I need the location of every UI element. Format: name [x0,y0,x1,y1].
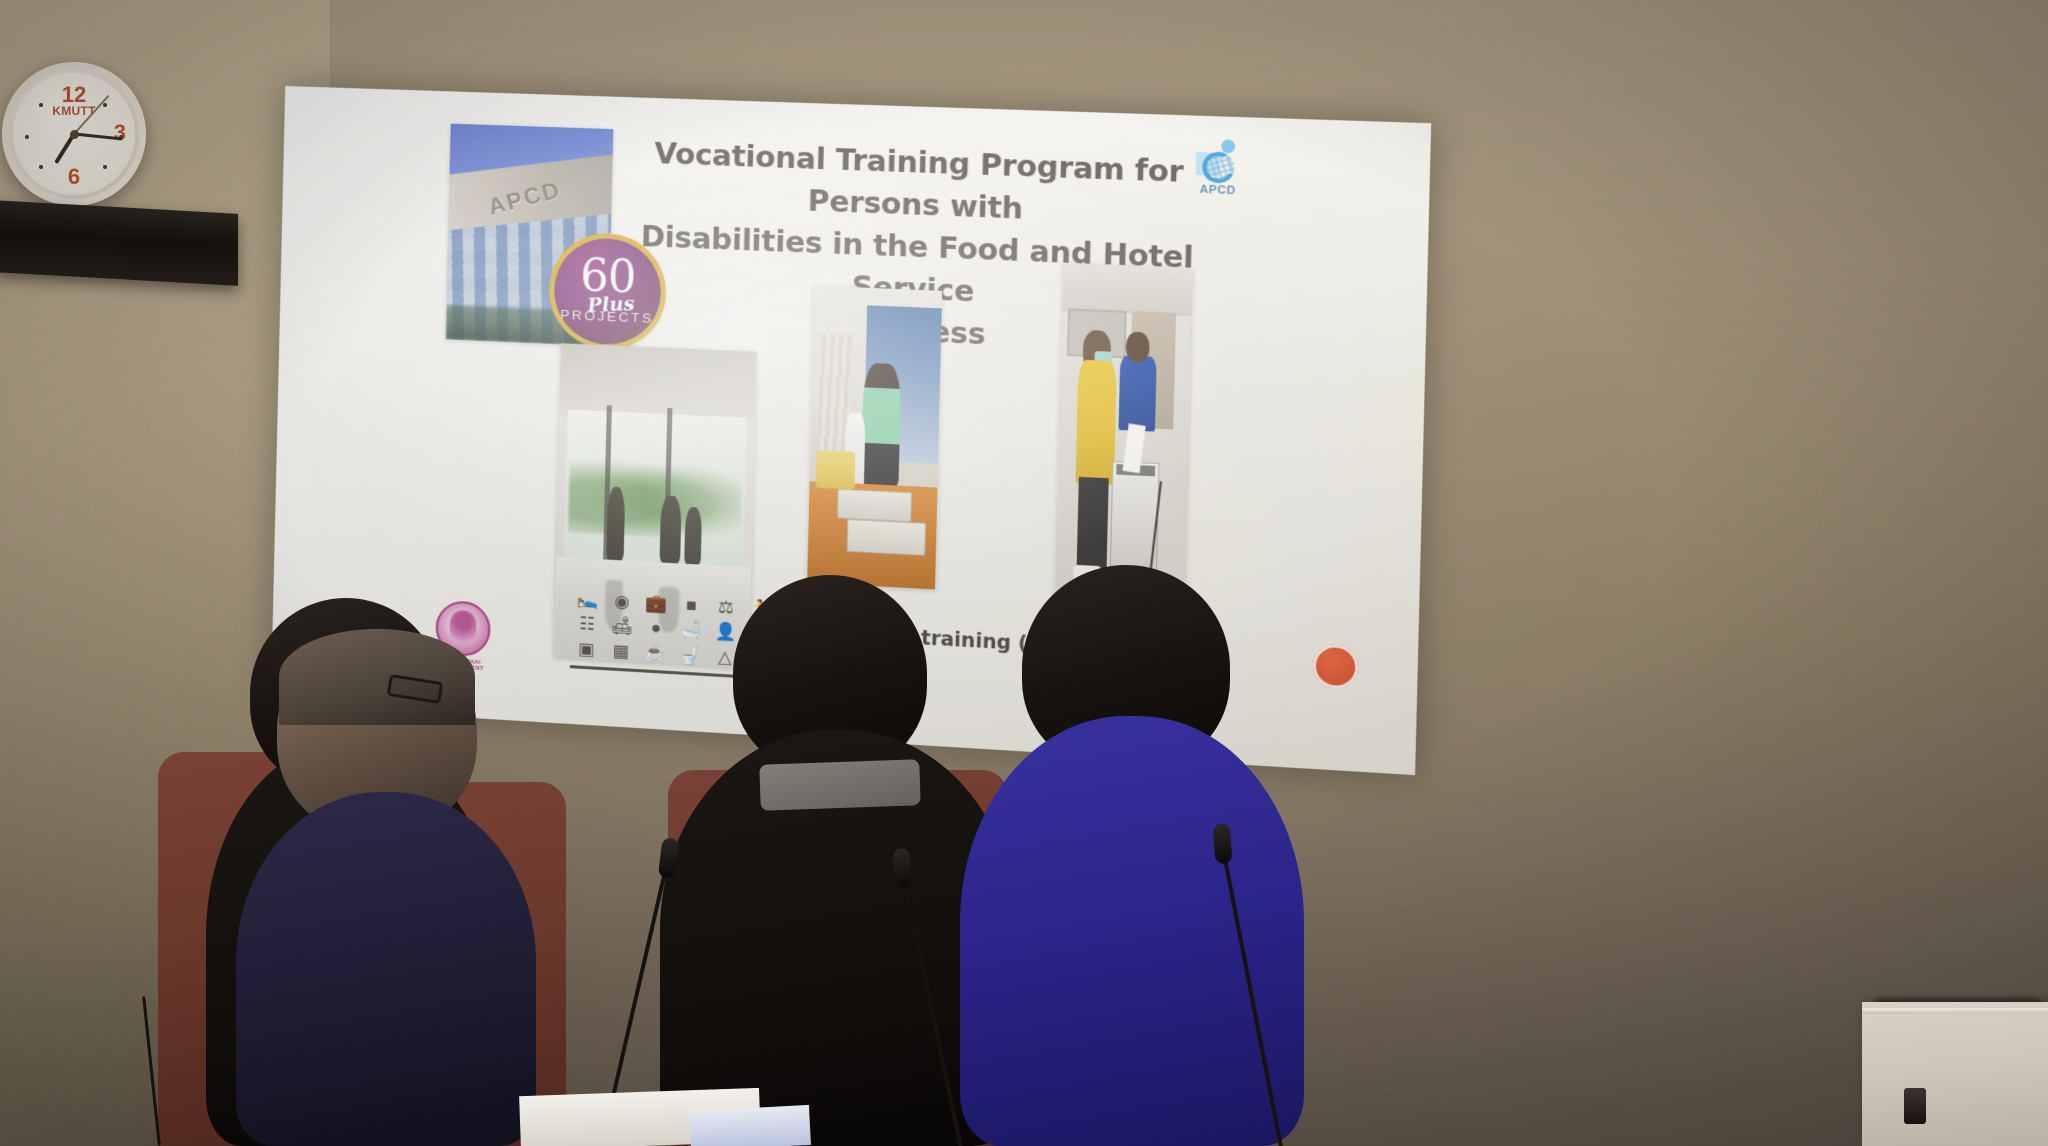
mic-capsule [892,848,912,889]
console-knob[interactable] [1904,1088,1926,1124]
attendee-right-body [960,716,1304,1146]
mic-capsule [1213,823,1233,864]
document-on-table [689,1105,811,1146]
attendee-glasses-hair [279,629,475,725]
console-edge [1862,1008,2048,1014]
conference-room-scene: 12 3 6 KMUTT APCD [0,0,2048,1146]
av-console [1862,1002,2048,1146]
attendee-center-collar [759,759,921,811]
attendee-glasses-body [236,792,536,1146]
